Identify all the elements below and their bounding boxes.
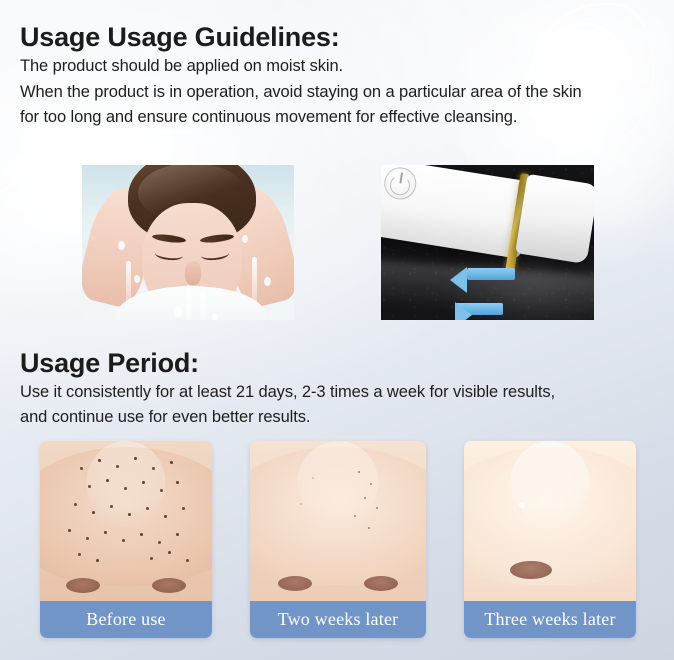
photo-device-closeup bbox=[381, 165, 594, 320]
result-caption-two-weeks: Two weeks later bbox=[250, 601, 426, 638]
device-head bbox=[515, 174, 594, 264]
photo-woman-washing-face bbox=[82, 165, 294, 320]
usage-guidelines-line-3: for too long and ensure continuous movem… bbox=[20, 108, 517, 127]
water-droplet bbox=[264, 277, 271, 286]
water-droplet bbox=[212, 313, 218, 320]
nose-photo-three-weeks bbox=[464, 441, 636, 601]
usage-period-heading: Usage Period: bbox=[20, 348, 199, 379]
water-droplet bbox=[174, 307, 182, 317]
nose-photo-two-weeks bbox=[250, 441, 426, 601]
result-card-two-weeks: Two weeks later bbox=[250, 441, 426, 638]
water-droplet bbox=[134, 275, 140, 283]
blackhead-pores bbox=[40, 441, 212, 601]
residual-pores bbox=[250, 441, 426, 601]
product-usage-infographic: Usage Usage Guidelines: The product shou… bbox=[0, 0, 674, 660]
result-card-before: Before use bbox=[40, 441, 212, 638]
usage-period-line-1: Use it consistently for at least 21 days… bbox=[20, 383, 555, 402]
result-caption-before: Before use bbox=[40, 601, 212, 638]
water-stream bbox=[126, 261, 131, 307]
water-stream bbox=[252, 257, 257, 307]
result-card-three-weeks: Three weeks later bbox=[464, 441, 636, 638]
usage-guidelines-heading: Usage Usage Guidelines: bbox=[20, 22, 340, 53]
water-stream bbox=[200, 291, 205, 320]
skin-highlight bbox=[518, 503, 525, 508]
water-stream bbox=[186, 285, 191, 320]
usage-guidelines-line-2: When the product is in operation, avoid … bbox=[20, 83, 582, 102]
nose bbox=[185, 261, 201, 285]
water-droplet bbox=[242, 235, 248, 243]
usage-guidelines-line-1: The product should be applied on moist s… bbox=[20, 57, 343, 76]
water-droplet bbox=[118, 241, 125, 250]
power-button-icon bbox=[382, 165, 419, 202]
nose-photo-before bbox=[40, 441, 212, 601]
result-caption-three-weeks: Three weeks later bbox=[464, 601, 636, 638]
usage-period-line-2: and continue use for even better results… bbox=[20, 408, 310, 427]
